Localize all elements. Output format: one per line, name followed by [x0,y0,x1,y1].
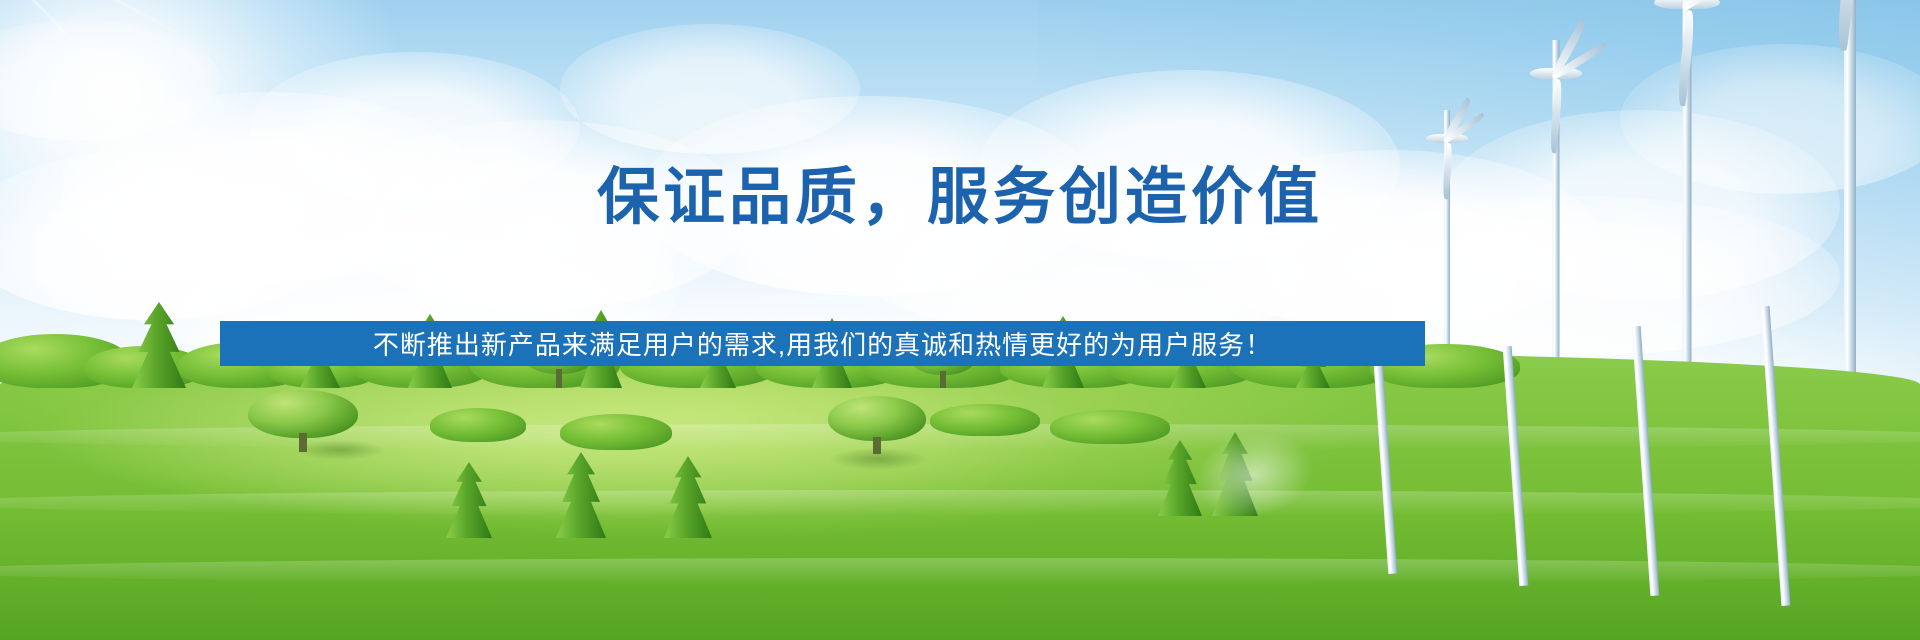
round-tree [828,396,926,454]
bush [930,404,1040,436]
conifer-tree [556,452,606,538]
tree-crown [828,396,926,441]
banner-subtitle-bar: 不断推出新产品来满足用户的需求,用我们的真诚和热情更好的为用户服务！ [220,321,1425,366]
bush [430,408,526,442]
conifer-tree [664,456,712,538]
round-tree [248,390,358,452]
promotional-banner: 保证品质，服务创造价值 不断推出新产品来满足用户的需求,用我们的真诚和热情更好的… [0,0,1920,640]
turbine-blade [1675,10,1697,107]
solar-panel-grid [1170,246,1920,640]
tree-trunk [299,433,308,452]
tree-crown [248,390,358,438]
tree-trunk [556,369,562,388]
tree-trunk [940,371,946,388]
conifer-tree [446,462,492,538]
solar-panel-array [1170,246,1920,640]
banner-subtitle-text: 不断推出新产品来满足用户的需求,用我们的真诚和热情更好的为用户服务！ [373,325,1272,362]
turbine-blade [1548,79,1564,153]
tree-trunk [873,437,881,454]
banner-headline: 保证品质，服务创造价值 [0,164,1920,232]
bush [560,414,672,450]
bush [1050,410,1170,444]
conifer-tree [132,302,186,388]
